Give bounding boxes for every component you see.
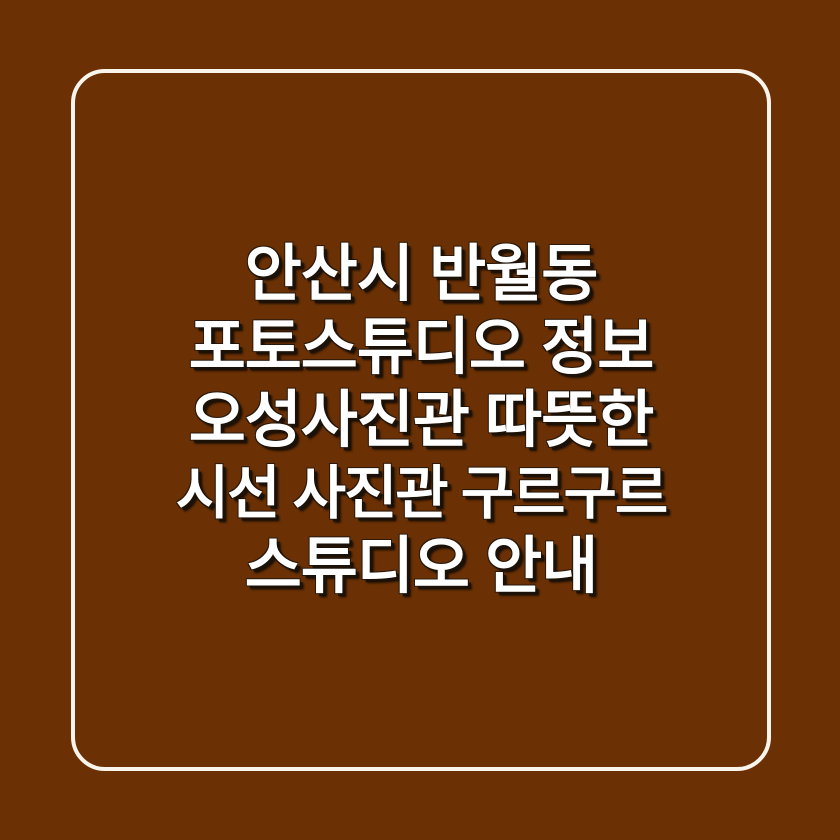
headline-line-2: 포토스튜디오 정보 (85, 311, 757, 384)
headline-line-3: 오성사진관 따뜻한 (85, 384, 757, 457)
headline-line-5: 스튜디오 안내 (85, 530, 757, 603)
headline-block: 안산시 반월동 포토스튜디오 정보 오성사진관 따뜻한 시선 사진관 구르구르 … (71, 69, 771, 771)
promo-card: 안산시 반월동 포토스튜디오 정보 오성사진관 따뜻한 시선 사진관 구르구르 … (0, 0, 840, 840)
headline-text: 안산시 반월동 포토스튜디오 정보 오성사진관 따뜻한 시선 사진관 구르구르 … (85, 238, 757, 603)
headline-line-1: 안산시 반월동 (85, 238, 757, 311)
headline-line-4: 시선 사진관 구르구르 (85, 457, 757, 530)
